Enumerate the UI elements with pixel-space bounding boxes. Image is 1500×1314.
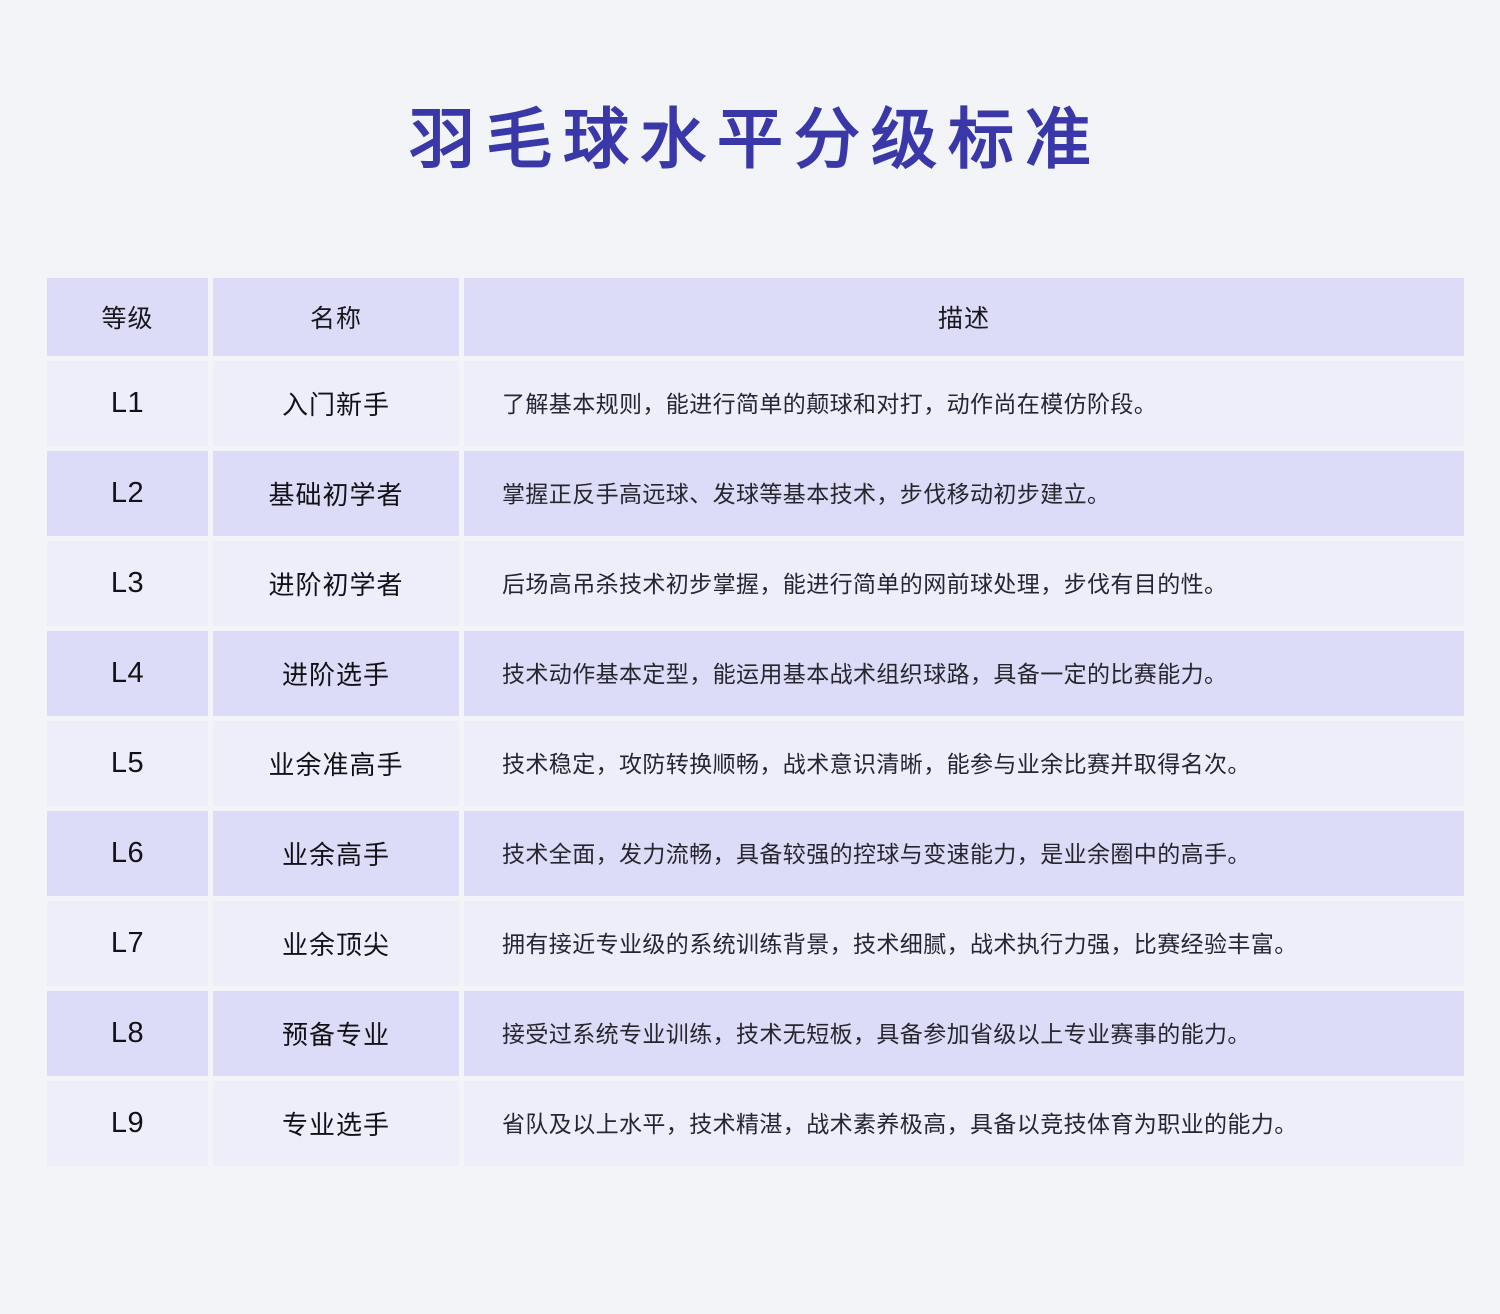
page-root: 羽毛球水平分级标准 等级 名称 描述 L1 入门新手 了解基本规则，能进行简单的… — [0, 0, 1500, 1314]
cell-level: L5 — [47, 721, 208, 806]
cell-name: 基础初学者 — [213, 451, 459, 536]
cell-name: 入门新手 — [213, 361, 459, 446]
table-row: L2 基础初学者 掌握正反手高远球、发球等基本技术，步伐移动初步建立。 — [47, 451, 1464, 536]
cell-level: L8 — [47, 991, 208, 1076]
page-title: 羽毛球水平分级标准 — [0, 96, 1500, 182]
cell-name: 预备专业 — [213, 991, 459, 1076]
cell-name: 业余顶尖 — [213, 901, 459, 986]
cell-description: 后场高吊杀技术初步掌握，能进行简单的网前球处理，步伐有目的性。 — [464, 541, 1464, 626]
cell-level: L7 — [47, 901, 208, 986]
column-header-level: 等级 — [47, 278, 208, 356]
table-row: L4 进阶选手 技术动作基本定型，能运用基本战术组织球路，具备一定的比赛能力。 — [47, 631, 1464, 716]
cell-description: 拥有接近专业级的系统训练背景，技术细腻，战术执行力强，比赛经验丰富。 — [464, 901, 1464, 986]
table-row: L5 业余准高手 技术稳定，攻防转换顺畅，战术意识清晰，能参与业余比赛并取得名次… — [47, 721, 1464, 806]
column-header-name: 名称 — [213, 278, 459, 356]
cell-level: L2 — [47, 451, 208, 536]
table-row: L6 业余高手 技术全面，发力流畅，具备较强的控球与变速能力，是业余圈中的高手。 — [47, 811, 1464, 896]
grade-standard-table: 等级 名称 描述 L1 入门新手 了解基本规则，能进行简单的颠球和对打，动作尚在… — [42, 273, 1469, 1171]
table-row: L7 业余顶尖 拥有接近专业级的系统训练背景，技术细腻，战术执行力强，比赛经验丰… — [47, 901, 1464, 986]
table-row: L8 预备专业 接受过系统专业训练，技术无短板，具备参加省级以上专业赛事的能力。 — [47, 991, 1464, 1076]
cell-name: 进阶初学者 — [213, 541, 459, 626]
table-row: L1 入门新手 了解基本规则，能进行简单的颠球和对打，动作尚在模仿阶段。 — [47, 361, 1464, 446]
column-header-description: 描述 — [464, 278, 1464, 356]
cell-level: L1 — [47, 361, 208, 446]
table-row: L9 专业选手 省队及以上水平，技术精湛，战术素养极高，具备以竞技体育为职业的能… — [47, 1081, 1464, 1166]
cell-level: L4 — [47, 631, 208, 716]
cell-description: 省队及以上水平，技术精湛，战术素养极高，具备以竞技体育为职业的能力。 — [464, 1081, 1464, 1166]
cell-level: L6 — [47, 811, 208, 896]
cell-description: 掌握正反手高远球、发球等基本技术，步伐移动初步建立。 — [464, 451, 1464, 536]
table-header: 等级 名称 描述 — [47, 278, 1464, 356]
cell-description: 接受过系统专业训练，技术无短板，具备参加省级以上专业赛事的能力。 — [464, 991, 1464, 1076]
cell-name: 业余准高手 — [213, 721, 459, 806]
cell-level: L3 — [47, 541, 208, 626]
cell-name: 专业选手 — [213, 1081, 459, 1166]
cell-description: 技术动作基本定型，能运用基本战术组织球路，具备一定的比赛能力。 — [464, 631, 1464, 716]
cell-name: 进阶选手 — [213, 631, 459, 716]
cell-description: 技术全面，发力流畅，具备较强的控球与变速能力，是业余圈中的高手。 — [464, 811, 1464, 896]
cell-description: 技术稳定，攻防转换顺畅，战术意识清晰，能参与业余比赛并取得名次。 — [464, 721, 1464, 806]
cell-level: L9 — [47, 1081, 208, 1166]
cell-description: 了解基本规则，能进行简单的颠球和对打，动作尚在模仿阶段。 — [464, 361, 1464, 446]
table-body: L1 入门新手 了解基本规则，能进行简单的颠球和对打，动作尚在模仿阶段。 L2 … — [47, 361, 1464, 1166]
table-row: L3 进阶初学者 后场高吊杀技术初步掌握，能进行简单的网前球处理，步伐有目的性。 — [47, 541, 1464, 626]
cell-name: 业余高手 — [213, 811, 459, 896]
table-header-row: 等级 名称 描述 — [47, 278, 1464, 356]
